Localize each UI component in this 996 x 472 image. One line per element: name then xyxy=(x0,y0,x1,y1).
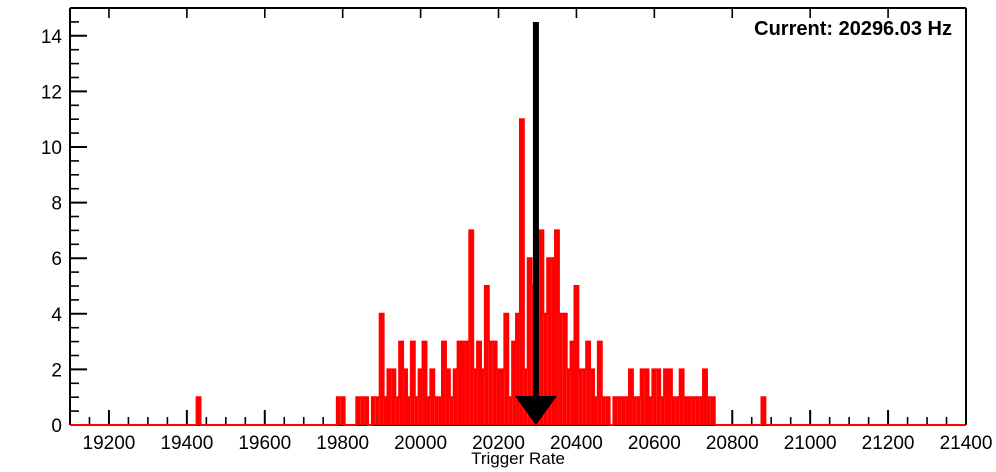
histogram-bar xyxy=(415,397,419,425)
root-plot-svg: 02468101214 1920019400196001980020000202… xyxy=(0,0,996,472)
histogram-bar xyxy=(625,397,629,425)
histogram-bar xyxy=(602,397,606,425)
x-tick-label: 19200 xyxy=(83,433,136,454)
x-tick-label: 20000 xyxy=(394,433,447,454)
histogram-bar xyxy=(633,397,637,425)
histogram-bar xyxy=(684,397,688,425)
histogram-bar xyxy=(360,397,364,425)
current-rate-label: Current: 20296.03 Hz xyxy=(754,18,952,40)
histogram-bar xyxy=(450,397,454,425)
histogram-bar xyxy=(407,397,411,425)
x-tick-label: 20800 xyxy=(706,433,759,454)
y-tick-label: 10 xyxy=(41,138,62,159)
x-axis-title: Trigger Rate xyxy=(471,449,565,468)
y-tick-label: 4 xyxy=(51,305,62,326)
x-tick-label: 20600 xyxy=(628,433,681,454)
histogram-bar xyxy=(462,342,466,425)
histogram-bar xyxy=(672,397,676,425)
y-tick-label: 12 xyxy=(41,82,62,103)
histogram-bar xyxy=(691,397,695,425)
histogram-bar xyxy=(578,369,582,425)
histogram-bar xyxy=(481,369,485,425)
y-axis: 02468101214 xyxy=(41,8,87,437)
histogram-bar xyxy=(438,397,442,425)
histogram-bar xyxy=(395,397,399,425)
histogram-bar xyxy=(594,397,598,425)
x-tick-label: 19400 xyxy=(160,433,213,454)
histogram-bar xyxy=(434,397,438,425)
histogram-bar xyxy=(384,397,388,425)
x-tick-label: 21000 xyxy=(784,433,837,454)
y-tick-label: 2 xyxy=(51,360,62,381)
histogram-bar xyxy=(637,397,641,425)
histogram-bar xyxy=(617,397,621,425)
histogram-bar xyxy=(707,397,711,425)
histogram-bar xyxy=(500,369,504,425)
histogram-bar xyxy=(649,397,653,425)
x-tick-label: 19600 xyxy=(238,433,291,454)
histogram-bar xyxy=(687,397,691,425)
histogram-bar xyxy=(497,369,501,425)
y-tick-label: 0 xyxy=(51,416,62,437)
histogram-bar xyxy=(567,369,571,425)
x-tick-label: 19800 xyxy=(316,433,369,454)
histogram-bar xyxy=(676,397,680,425)
histogram-bar xyxy=(559,314,563,425)
y-tick-label: 14 xyxy=(41,27,63,48)
histogram-bar xyxy=(489,342,493,425)
histogram-bar xyxy=(695,397,699,425)
histogram-bar xyxy=(376,397,380,425)
x-tick-label: 21400 xyxy=(940,433,993,454)
histogram-bar xyxy=(699,397,703,425)
histogram-series xyxy=(70,119,966,425)
histogram-bar xyxy=(426,397,430,425)
histogram-canvas: 02468101214 1920019400196001980020000202… xyxy=(0,0,996,472)
x-tick-label: 21200 xyxy=(862,433,915,454)
histogram-bar xyxy=(508,397,512,425)
histogram-bar xyxy=(465,342,469,425)
histogram-bar xyxy=(660,397,664,425)
histogram-bar xyxy=(621,397,625,425)
y-tick-label: 6 xyxy=(51,249,62,270)
y-tick-label: 8 xyxy=(51,194,62,215)
histogram-bar xyxy=(473,369,477,425)
histogram-bar xyxy=(582,369,586,425)
